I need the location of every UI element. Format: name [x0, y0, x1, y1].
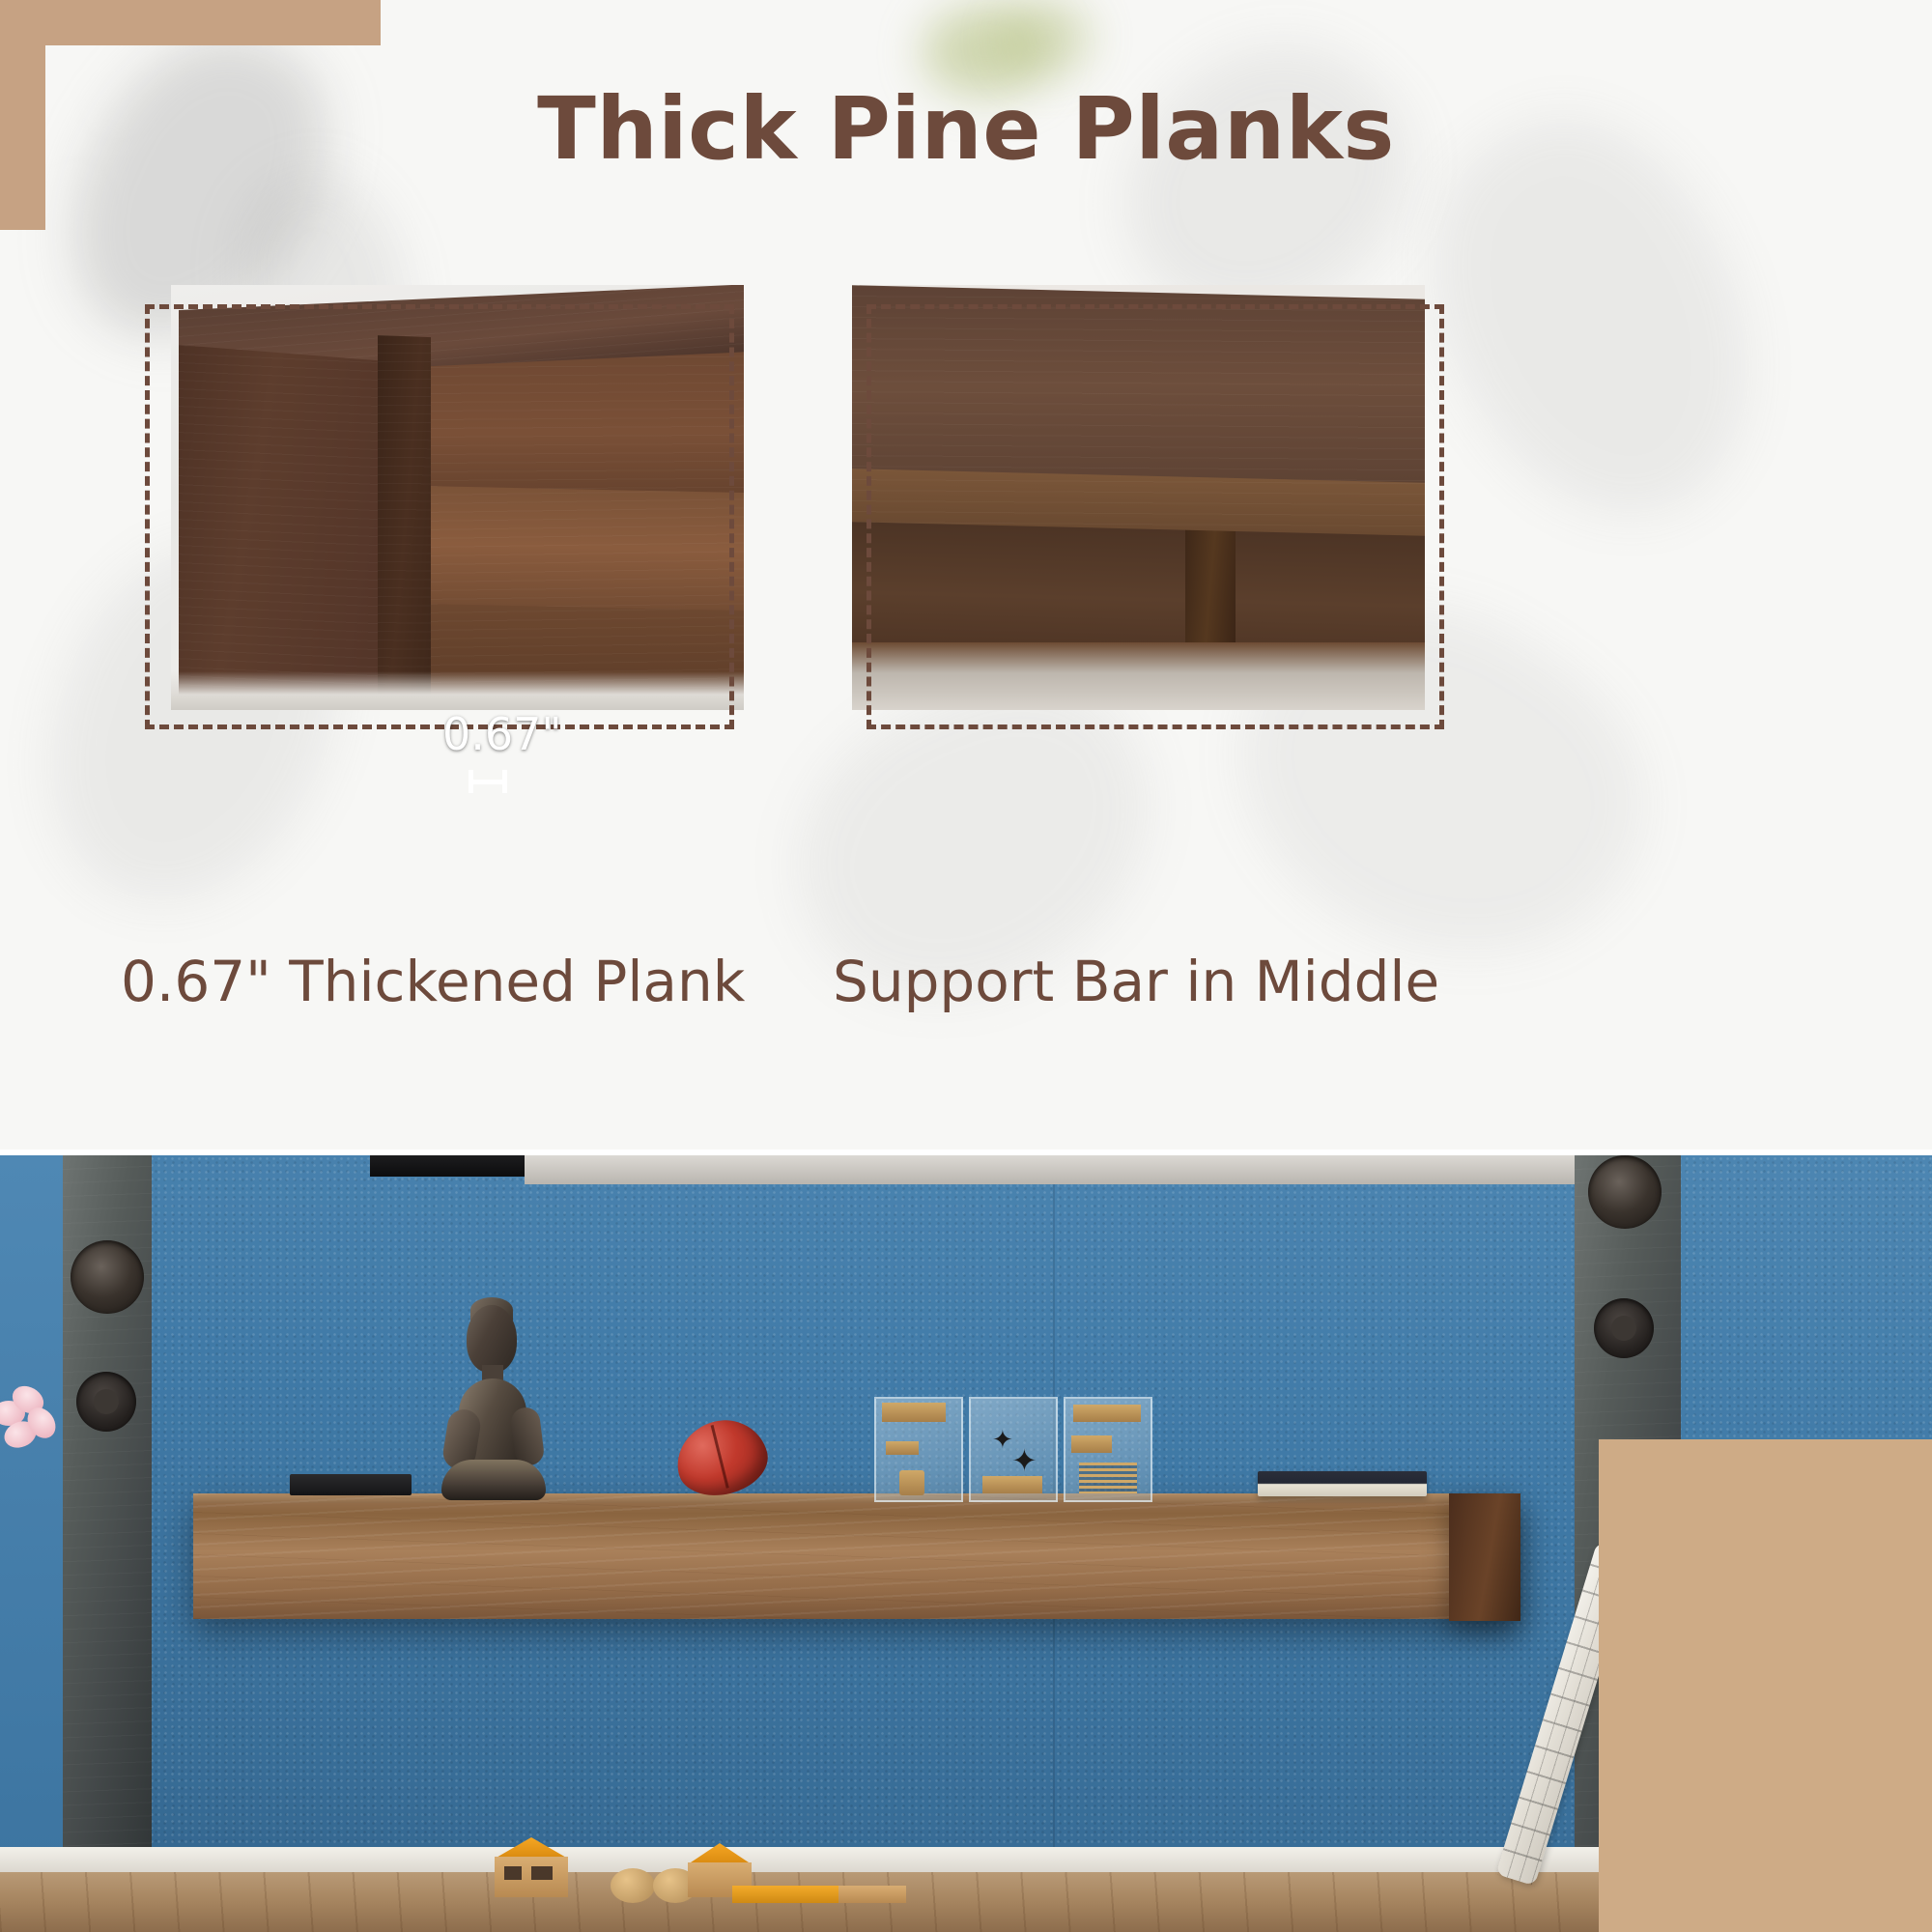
feature-caption-support-bar: Support Bar in Middle	[833, 949, 1439, 1014]
shelf-end-cap	[1449, 1493, 1520, 1621]
book	[1258, 1471, 1427, 1496]
speaker-driver-icon	[1588, 1155, 1662, 1229]
speaker-driver-icon	[71, 1240, 144, 1314]
glass-picture-frames: ✦ ✦	[874, 1397, 1154, 1498]
floating-wood-shelf	[193, 1493, 1519, 1619]
feature-caption-thickened-plank: 0.67" Thickened Plank	[121, 949, 745, 1014]
infographic-stage: Thick Pine Planks 0.67"	[0, 0, 1932, 1932]
page-title: Thick Pine Planks	[0, 83, 1932, 174]
black-tray	[290, 1474, 412, 1495]
toy-plank-block	[838, 1886, 906, 1903]
feature-panel-support-bar	[842, 275, 1451, 739]
feature-section: Thick Pine Planks 0.67"	[0, 0, 1932, 1155]
toy-nut-block	[611, 1868, 655, 1903]
speaker-driver-icon	[76, 1372, 136, 1432]
dashed-highlight-frame	[867, 304, 1444, 729]
dashed-highlight-frame	[145, 304, 734, 729]
feature-panel-thickened-plank: 0.67"	[135, 275, 744, 739]
speaker-tower-left	[63, 1155, 152, 1932]
dimension-marker-icon	[469, 770, 507, 793]
dimension-label: 0.67"	[442, 708, 562, 760]
speaker-driver-icon	[1594, 1298, 1654, 1358]
toy-plank-block	[732, 1886, 838, 1903]
tv-bar	[370, 1155, 525, 1177]
ceiling-panel	[525, 1155, 1577, 1184]
corner-accent-bottom-right	[1599, 1439, 1932, 1932]
cherry-blossom-decor	[0, 1387, 68, 1464]
toy-house-block	[495, 1837, 568, 1897]
buddha-statue	[440, 1305, 546, 1498]
green-leaf-decor	[1000, 0, 1092, 77]
corner-accent-horizontal	[0, 0, 381, 45]
section-divider	[0, 1150, 1932, 1155]
